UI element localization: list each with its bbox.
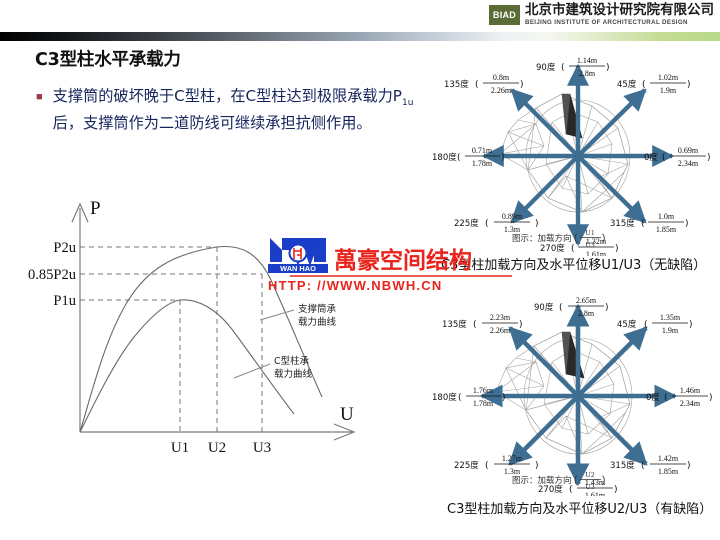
legend-den-bottom: U3 — [585, 482, 594, 491]
svg-text:1.85m: 1.85m — [658, 467, 679, 476]
svg-text:1.35m: 1.35m — [660, 313, 681, 322]
svg-text:1.76m: 1.76m — [473, 386, 494, 395]
svg-text:): ) — [709, 393, 713, 403]
svg-text:0度: 0度 — [646, 392, 660, 403]
bullet-dot-icon: ■ — [36, 84, 43, 135]
company-name-en: BEIJING INSTITUTE OF ARCHITECTURAL DESIG… — [525, 20, 714, 26]
svg-text:1.46m: 1.46m — [680, 386, 701, 395]
svg-text:(: ( — [473, 320, 477, 330]
biad-logo-badge: BIAD — [489, 5, 520, 25]
svg-text:(: ( — [485, 219, 489, 229]
svg-text:(: ( — [642, 80, 646, 90]
annotation-support-line2: 载力曲线 — [298, 316, 337, 328]
y-tick-p1u: P1u — [53, 293, 76, 309]
svg-text:(: ( — [574, 233, 578, 244]
y-tick-p2u: P2u — [53, 240, 76, 256]
legend-label-top: 图示：加载方向 — [512, 233, 572, 244]
svg-text:(: ( — [574, 475, 578, 486]
svg-text:45度: 45度 — [617, 79, 637, 90]
svg-text:): ) — [687, 80, 691, 90]
label-45deg: 45度 ( 1.02m 1.9m ) — [617, 73, 691, 95]
svg-text:(: ( — [662, 153, 666, 163]
svg-text:2.34m: 2.34m — [678, 159, 699, 168]
svg-text:0.8m: 0.8m — [493, 73, 510, 82]
slide-header: BIAD 北京市建筑设计研究院有限公司 BEIJING INSTITUTE OF… — [0, 0, 720, 32]
svg-text:(: ( — [475, 80, 479, 90]
x-tick-u2: U2 — [208, 440, 226, 456]
svg-text:): ) — [502, 393, 506, 403]
svg-text:2.8m: 2.8m — [578, 309, 595, 318]
svg-text:135度: 135度 — [442, 319, 467, 330]
svg-text:2.34m: 2.34m — [680, 399, 701, 408]
slide-root: BIAD 北京市建筑设计研究院有限公司 BEIJING INSTITUTE OF… — [0, 0, 720, 540]
svg-text:2.26m: 2.26m — [490, 326, 511, 335]
label2-45deg: 45度 ( 1.35m 1.9m ) — [617, 313, 693, 335]
legend-label-bottom: 图示：加载方向 — [512, 475, 572, 486]
company-name-cn: 北京市建筑设计研究院有限公司 — [525, 4, 714, 18]
biad-logo-text: 北京市建筑设计研究院有限公司 BEIJING INSTITUTE OF ARCH… — [525, 4, 714, 26]
svg-text:1.42m: 1.42m — [658, 454, 679, 463]
arrow2-315deg — [578, 396, 646, 464]
page-title: C3型柱水平承载力 — [35, 46, 181, 71]
header-gradient-divider — [0, 32, 720, 41]
annotation-support-line1: 支撑筒承 — [298, 303, 337, 315]
svg-text:2.65m: 2.65m — [576, 296, 597, 305]
svg-text:(: ( — [644, 320, 648, 330]
svg-text:90度: 90度 — [536, 62, 556, 73]
annotation-column-line2: 载力曲线 — [274, 368, 313, 380]
svg-text:(: ( — [664, 393, 668, 403]
pu-curve-svg: P U P2u 0.85P2u P1u — [22, 192, 382, 460]
legend-num-top: U1 — [585, 228, 594, 237]
arrow-315deg — [578, 156, 645, 222]
label-0deg: 0度 ( 0.69m 2.34m ) — [644, 146, 711, 168]
svg-text:180度: 180度 — [432, 152, 457, 163]
y-tick-085p2u: 0.85P2u — [28, 267, 76, 283]
svg-text:1.85m: 1.85m — [656, 225, 677, 234]
svg-text:(: ( — [561, 63, 565, 73]
svg-text:1.14m: 1.14m — [577, 56, 598, 65]
svg-text:(: ( — [559, 303, 563, 313]
svg-text:135度: 135度 — [444, 79, 469, 90]
svg-text:): ) — [689, 320, 693, 330]
bullet-subscript: 1u — [402, 98, 413, 108]
svg-text:(: ( — [457, 153, 461, 163]
svg-text:): ) — [707, 153, 711, 163]
annotation-column-line1: C型柱承 — [274, 355, 310, 367]
svg-text:): ) — [606, 63, 610, 73]
label-90deg: 90度 ( 1.14m 2.8m ) — [536, 56, 610, 78]
svg-text:225度: 225度 — [454, 218, 479, 229]
svg-text:(: ( — [641, 219, 645, 229]
svg-text:1.27m: 1.27m — [502, 454, 523, 463]
svg-text:): ) — [602, 233, 605, 244]
svg-text:1.78m: 1.78m — [473, 399, 494, 408]
svg-text:(: ( — [458, 393, 462, 403]
svg-text:): ) — [605, 303, 609, 313]
dome-wireframe — [500, 94, 630, 212]
x-tick-u3: U3 — [253, 440, 271, 456]
pu-curve-chart: P U P2u 0.85P2u P1u — [22, 192, 382, 460]
dome-wireframe-2 — [496, 332, 632, 454]
bullet-list-item: ■ 支撑筒的破坏晚于C型柱，在C型柱达到极限承载力P1u后，支撑筒作为二道防线可… — [36, 84, 428, 135]
svg-text:): ) — [519, 320, 523, 330]
svg-text:): ) — [602, 475, 605, 486]
svg-text:): ) — [501, 153, 505, 163]
rose-bottom-svg: 90度 ( 2.65m 2.8m ) 45度 ( 1.35m 1.9m ) 0度 — [432, 284, 720, 496]
load-direction-diagram-u2u3: 90度 ( 2.65m 2.8m ) 45度 ( 1.35m 1.9m ) 0度 — [432, 284, 720, 496]
svg-text:0.89m: 0.89m — [502, 212, 523, 221]
svg-text:2.23m: 2.23m — [490, 313, 511, 322]
svg-text:45度: 45度 — [617, 319, 637, 330]
svg-text:90度: 90度 — [534, 302, 554, 313]
svg-text:1.9m: 1.9m — [662, 326, 679, 335]
svg-text:0.69m: 0.69m — [678, 146, 699, 155]
legend-den-top: U3 — [585, 240, 594, 249]
label2-90deg: 90度 ( 2.65m 2.8m ) — [534, 296, 609, 318]
caption-u2u3: C3型柱加载方向及水平位移U2/U3（有缺陷） — [447, 498, 712, 517]
y-axis-label: P — [90, 198, 101, 219]
svg-text:1.0m: 1.0m — [658, 212, 675, 221]
label2-135deg: 135度 ( 2.23m 2.26m ) — [442, 313, 523, 335]
chart-guidelines — [80, 247, 262, 432]
legend-num-bottom: U2 — [585, 470, 594, 479]
svg-text:(: ( — [485, 461, 489, 471]
svg-text:): ) — [520, 80, 524, 90]
svg-text:180度: 180度 — [432, 392, 457, 403]
bullet-text: 支撑筒的破坏晚于C型柱，在C型柱达到极限承载力P1u后，支撑筒作为二道防线可继续… — [53, 84, 428, 135]
svg-text:2.26m: 2.26m — [491, 86, 512, 95]
label2-0deg: 0度 ( 1.46m 2.34m ) — [646, 386, 713, 408]
bullet-text-part1: 支撑筒的破坏晚于C型柱，在C型柱达到极限承载力P — [53, 87, 402, 105]
svg-text:): ) — [687, 461, 691, 471]
svg-text:0度: 0度 — [644, 152, 658, 163]
svg-text:): ) — [685, 219, 689, 229]
x-axis-label: U — [340, 404, 354, 425]
bullet-text-part2: 后，支撑筒作为二道防线可继续承担抗侧作用。 — [53, 114, 372, 132]
rose-top-legend-row: 图示：加载方向 ( U1 U3 ) — [512, 224, 632, 255]
rose-bottom-legend-row: 图示：加载方向 ( U2 U3 ) — [512, 466, 632, 497]
svg-text:225度: 225度 — [454, 460, 479, 471]
biad-logo: BIAD 北京市建筑设计研究院有限公司 BEIJING INSTITUTE OF… — [489, 4, 714, 26]
svg-text:(: ( — [641, 461, 645, 471]
svg-text:0.71m: 0.71m — [472, 146, 493, 155]
svg-text:1.78m: 1.78m — [472, 159, 493, 168]
svg-text:2.8m: 2.8m — [579, 69, 596, 78]
x-tick-u1: U1 — [171, 440, 189, 456]
svg-text:1.9m: 1.9m — [660, 86, 677, 95]
svg-text:1.02m: 1.02m — [658, 73, 679, 82]
arrow2-45deg — [578, 328, 646, 396]
caption-u1u3: C3型柱加载方向及水平位移U1/U3（无缺陷） — [441, 254, 706, 273]
